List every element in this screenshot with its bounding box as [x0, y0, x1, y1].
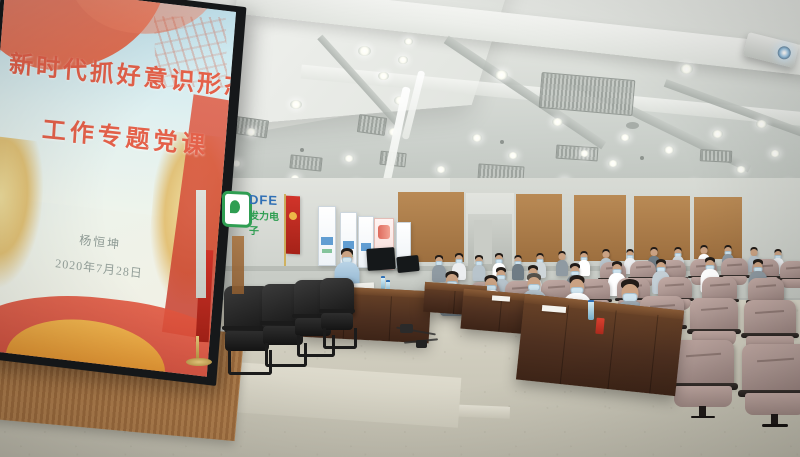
flag-stand-rod [196, 336, 199, 360]
slide-presenter-name: 杨恒坤 [79, 231, 122, 253]
ceiling-downlight [398, 56, 408, 64]
logo-letters: DFE [249, 192, 278, 208]
auditorium-seat-foreground[interactable] [742, 344, 800, 418]
seat-cushion [745, 393, 800, 415]
logo-chinese-name: 发力电子 [249, 207, 284, 239]
presenter-monitor [366, 247, 395, 271]
ceiling-downlight [246, 128, 256, 136]
conference-hall-photo: 新时代抓好意识形态 工作专题党课 杨恒坤 2020年7月28日 DFE 发力电子 [0, 0, 800, 457]
attendee-head [701, 247, 708, 254]
banner-accent-bar [321, 237, 333, 245]
floor-equipment-box [416, 340, 427, 348]
slide-title-line1: 新时代抓好意识形态 [8, 44, 236, 104]
desk-seam [498, 299, 502, 332]
company-logo: DFE 发力电子 [222, 189, 284, 232]
sprinkler-head [640, 156, 644, 160]
wood-column [232, 236, 244, 294]
floor-equipment-box [400, 324, 413, 333]
ceiling-downlight [552, 118, 563, 126]
slide-date: 2020年7月28日 [55, 254, 144, 281]
chair-base [323, 328, 358, 349]
desk-seam [453, 291, 456, 314]
red-pen-holder [595, 318, 604, 335]
sprinkler-head [500, 140, 504, 144]
left-wall-edge [196, 190, 206, 298]
ceiling-downlight [378, 72, 389, 80]
ceiling-downlight [404, 38, 413, 45]
party-flag [286, 196, 300, 255]
ac-vent [556, 145, 599, 162]
attendee-head [651, 249, 658, 256]
banner-accent-bar [322, 249, 332, 253]
seat-back [672, 340, 734, 388]
slide-title-line2: 工作专题党课 [41, 109, 210, 161]
projection-screen: 新时代抓好意识形态 工作专题党课 杨恒坤 2020年7月28日 [0, 0, 246, 386]
ceiling-downlight [680, 64, 693, 74]
presenter-monitor [396, 255, 420, 273]
projector-lens-icon [776, 45, 792, 61]
sprinkler-head [300, 148, 304, 152]
seat-back [748, 278, 784, 302]
ac-vent [289, 154, 322, 171]
sprinkler-head [626, 122, 639, 129]
seat-back [721, 258, 748, 277]
ceiling-downlight [495, 70, 508, 80]
ceiling-downlight [712, 130, 723, 138]
office-chair[interactable] [320, 278, 354, 346]
attendee-head [751, 249, 758, 256]
ceiling-downlight [736, 166, 746, 173]
ac-vent [357, 114, 387, 136]
ceiling-downlight [436, 166, 446, 173]
ceiling-downlight [472, 134, 482, 142]
ceiling-downlight [664, 146, 674, 154]
seat-foot [762, 424, 788, 427]
seat-back [742, 344, 800, 394]
ceiling-downlight [620, 134, 630, 141]
desk-seam [607, 310, 616, 389]
attendee-head [603, 251, 610, 258]
ac-vent [700, 149, 733, 163]
desk-seam [649, 315, 658, 394]
desk-seam [560, 305, 569, 384]
logo-mark-icon [222, 191, 252, 228]
desk-seam [389, 296, 392, 341]
seat-back [690, 298, 738, 332]
chair-arm [319, 309, 356, 312]
water-bottle [588, 300, 594, 320]
ceiling-downlight [344, 155, 354, 162]
seat-back [744, 300, 796, 337]
ceiling-downlight [290, 100, 302, 109]
ceiling-downlight [508, 152, 518, 159]
auditorium-seat-foreground[interactable] [672, 340, 734, 410]
ceiling-downlight [756, 120, 767, 128]
chair-seat [321, 313, 354, 329]
ceiling-downlight [580, 150, 589, 157]
ceiling-downlight [358, 46, 371, 56]
flag-stand [186, 336, 212, 366]
seat-cushion [674, 386, 731, 407]
ceiling-downlight [770, 150, 780, 157]
ceiling-downlight [608, 160, 618, 167]
flag-stand-base [186, 358, 212, 366]
seat-foot [691, 416, 716, 419]
banner-graphic [378, 225, 390, 239]
attendee-head [559, 253, 566, 260]
